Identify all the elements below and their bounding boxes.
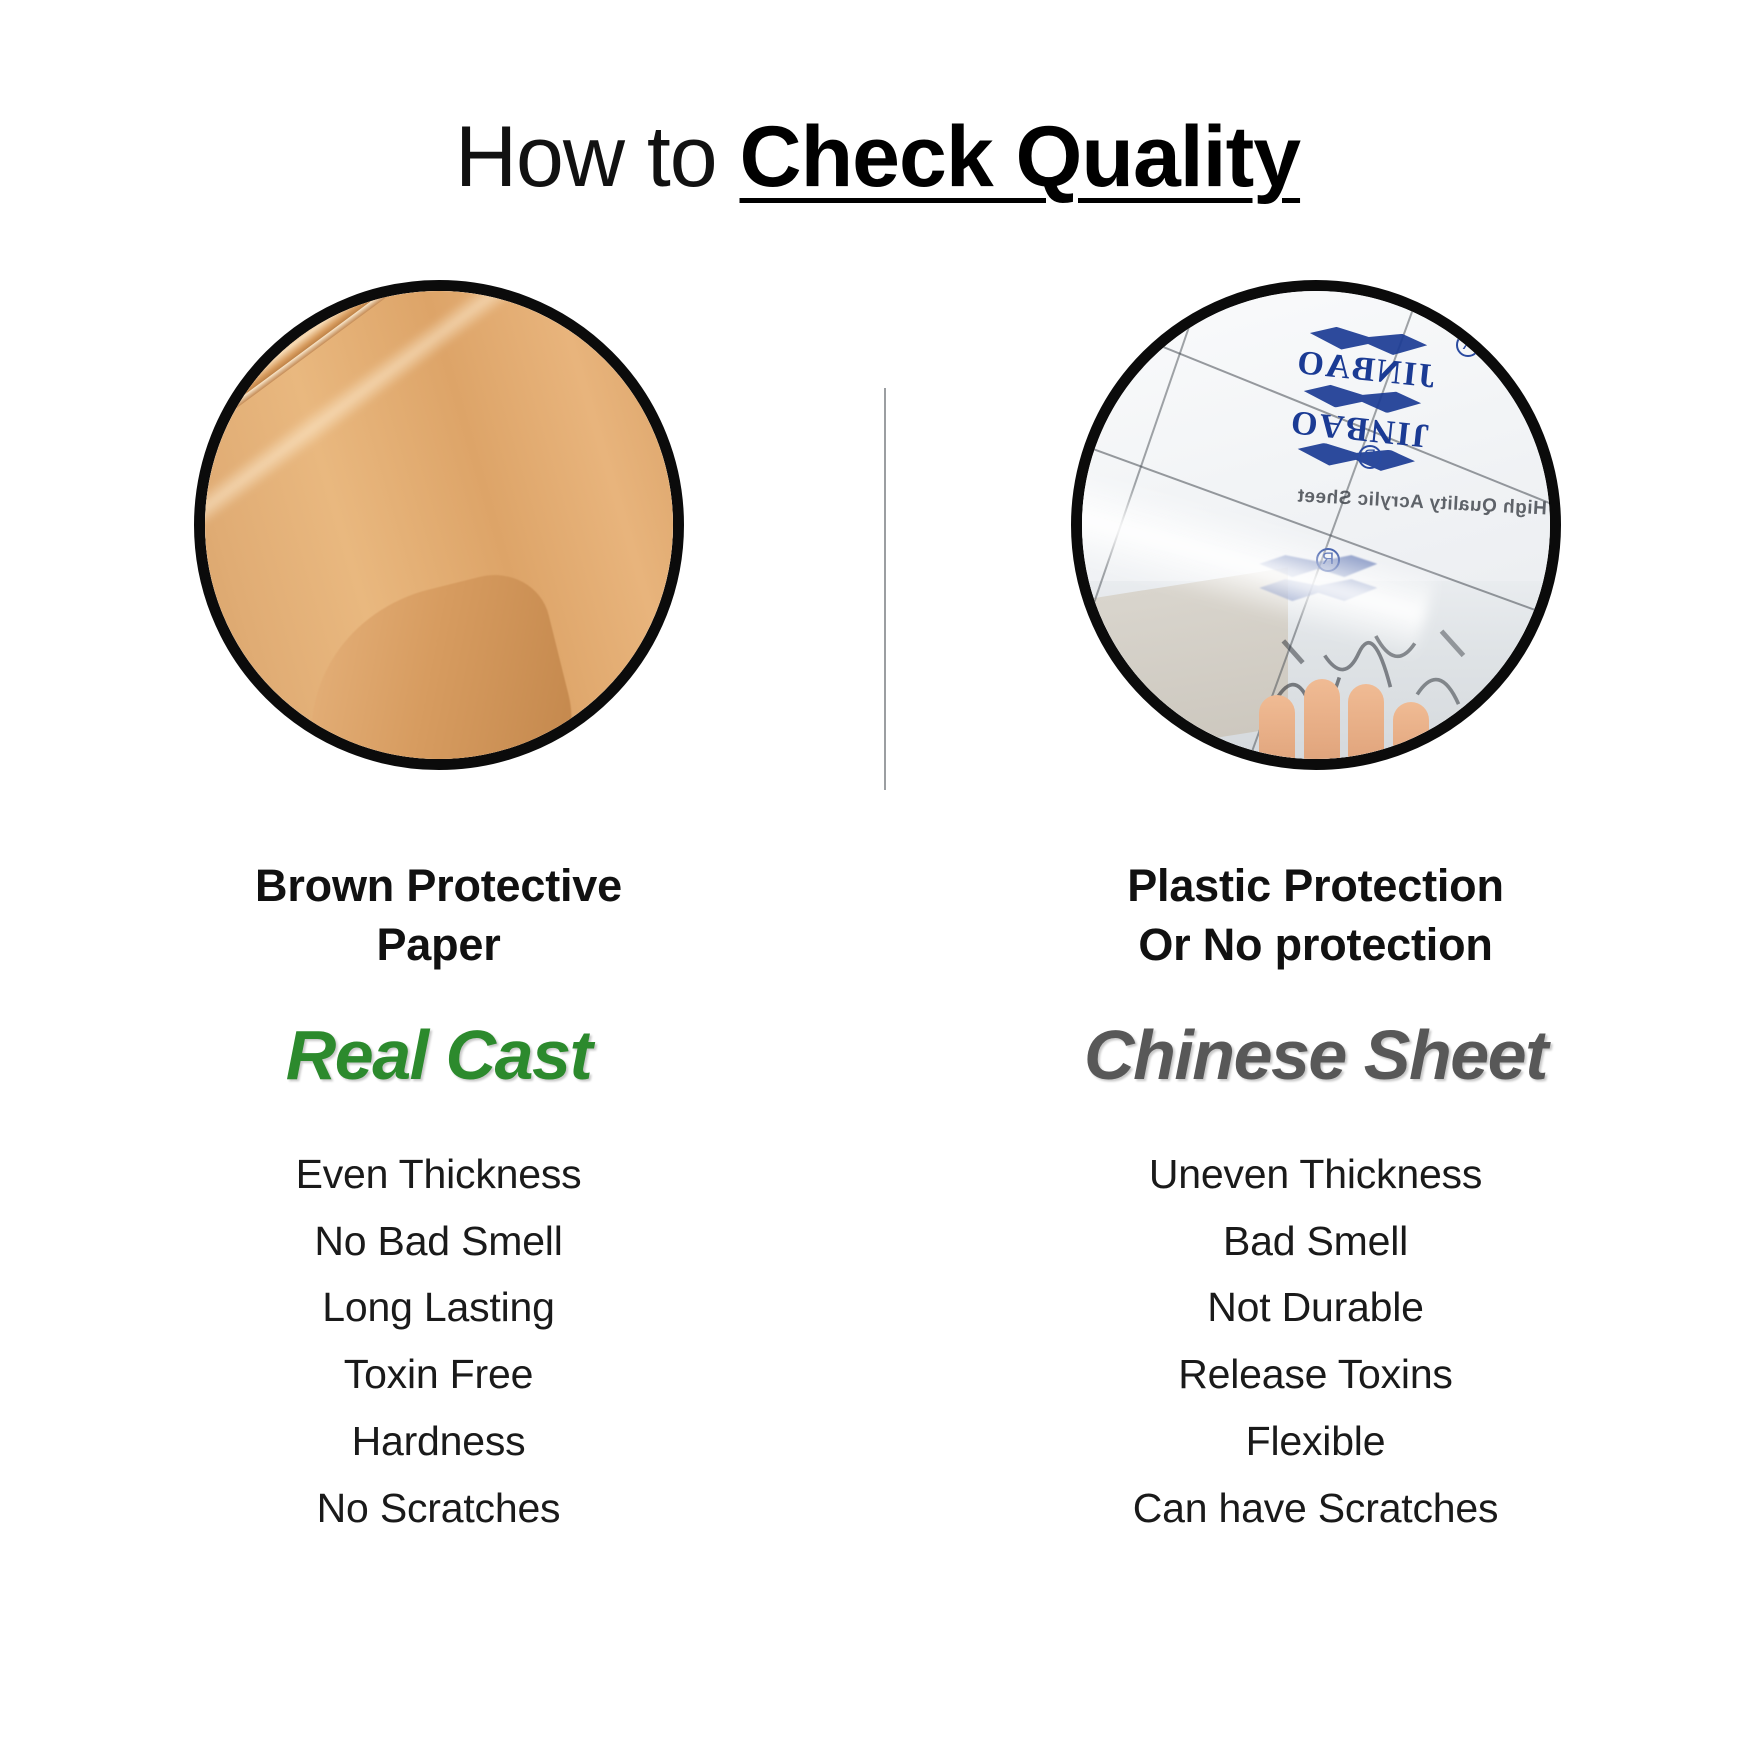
- finger: [1259, 695, 1295, 770]
- brand-name-text-mirrored: JINBAO: [1288, 405, 1431, 452]
- finger: [1304, 679, 1340, 770]
- column-caption-real-cast: Brown Protective Paper: [255, 856, 622, 975]
- list-item: Release Toxins: [1133, 1341, 1499, 1408]
- palm: [1250, 767, 1451, 770]
- page-title-bold: Check Quality: [740, 109, 1301, 205]
- plastic-protection-photo: JINBAO JINBAO R R R High Quality Acrylic…: [1071, 280, 1561, 770]
- headline-chinese-sheet: Chinese Sheet: [1084, 1015, 1547, 1095]
- headline-real-cast: Real Cast: [286, 1015, 592, 1095]
- page-title-regular: How to: [455, 109, 740, 205]
- brown-protective-paper-photo: [194, 280, 684, 770]
- hand-holding-film: [1250, 679, 1484, 770]
- comparison-columns: Brown Protective Paper Real Cast Even Th…: [0, 280, 1755, 1558]
- page-title: How to Check Quality: [0, 108, 1755, 207]
- list-item: Can have Scratches: [1133, 1475, 1499, 1542]
- caption-line-2: Or No protection: [1127, 915, 1504, 974]
- list-item: Uneven Thickness: [1133, 1141, 1499, 1208]
- list-item: Not Durable: [1133, 1274, 1499, 1341]
- list-item: No Scratches: [296, 1475, 582, 1542]
- list-item: Even Thickness: [296, 1141, 582, 1208]
- column-caption-chinese-sheet: Plastic Protection Or No protection: [1127, 856, 1504, 975]
- list-item: Bad Smell: [1133, 1208, 1499, 1275]
- list-item: No Bad Smell: [296, 1208, 582, 1275]
- feature-list-real-cast: Even Thickness No Bad Smell Long Lasting…: [296, 1141, 582, 1542]
- list-item: Toxin Free: [296, 1341, 582, 1408]
- column-real-cast: Brown Protective Paper Real Cast Even Th…: [0, 280, 877, 1558]
- caption-line-1: Plastic Protection: [1127, 856, 1504, 915]
- caption-line-2: Paper: [255, 915, 622, 974]
- list-item: Flexible: [1133, 1408, 1499, 1475]
- caption-line-1: Brown Protective: [255, 856, 622, 915]
- brand-name-text: JINBAO: [1294, 347, 1437, 394]
- list-item: Hardness: [296, 1408, 582, 1475]
- registered-trademark-icon: R: [1456, 333, 1480, 357]
- finger: [1393, 702, 1429, 770]
- finger: [1348, 684, 1384, 770]
- column-chinese-sheet: JINBAO JINBAO R R R High Quality Acrylic…: [877, 280, 1754, 1558]
- registered-trademark-icon: R: [1358, 445, 1382, 469]
- feature-list-chinese-sheet: Uneven Thickness Bad Smell Not Durable R…: [1133, 1141, 1499, 1542]
- infographic-page: { "title": { "regular": "How to ", "bold…: [0, 0, 1755, 1755]
- list-item: Long Lasting: [296, 1274, 582, 1341]
